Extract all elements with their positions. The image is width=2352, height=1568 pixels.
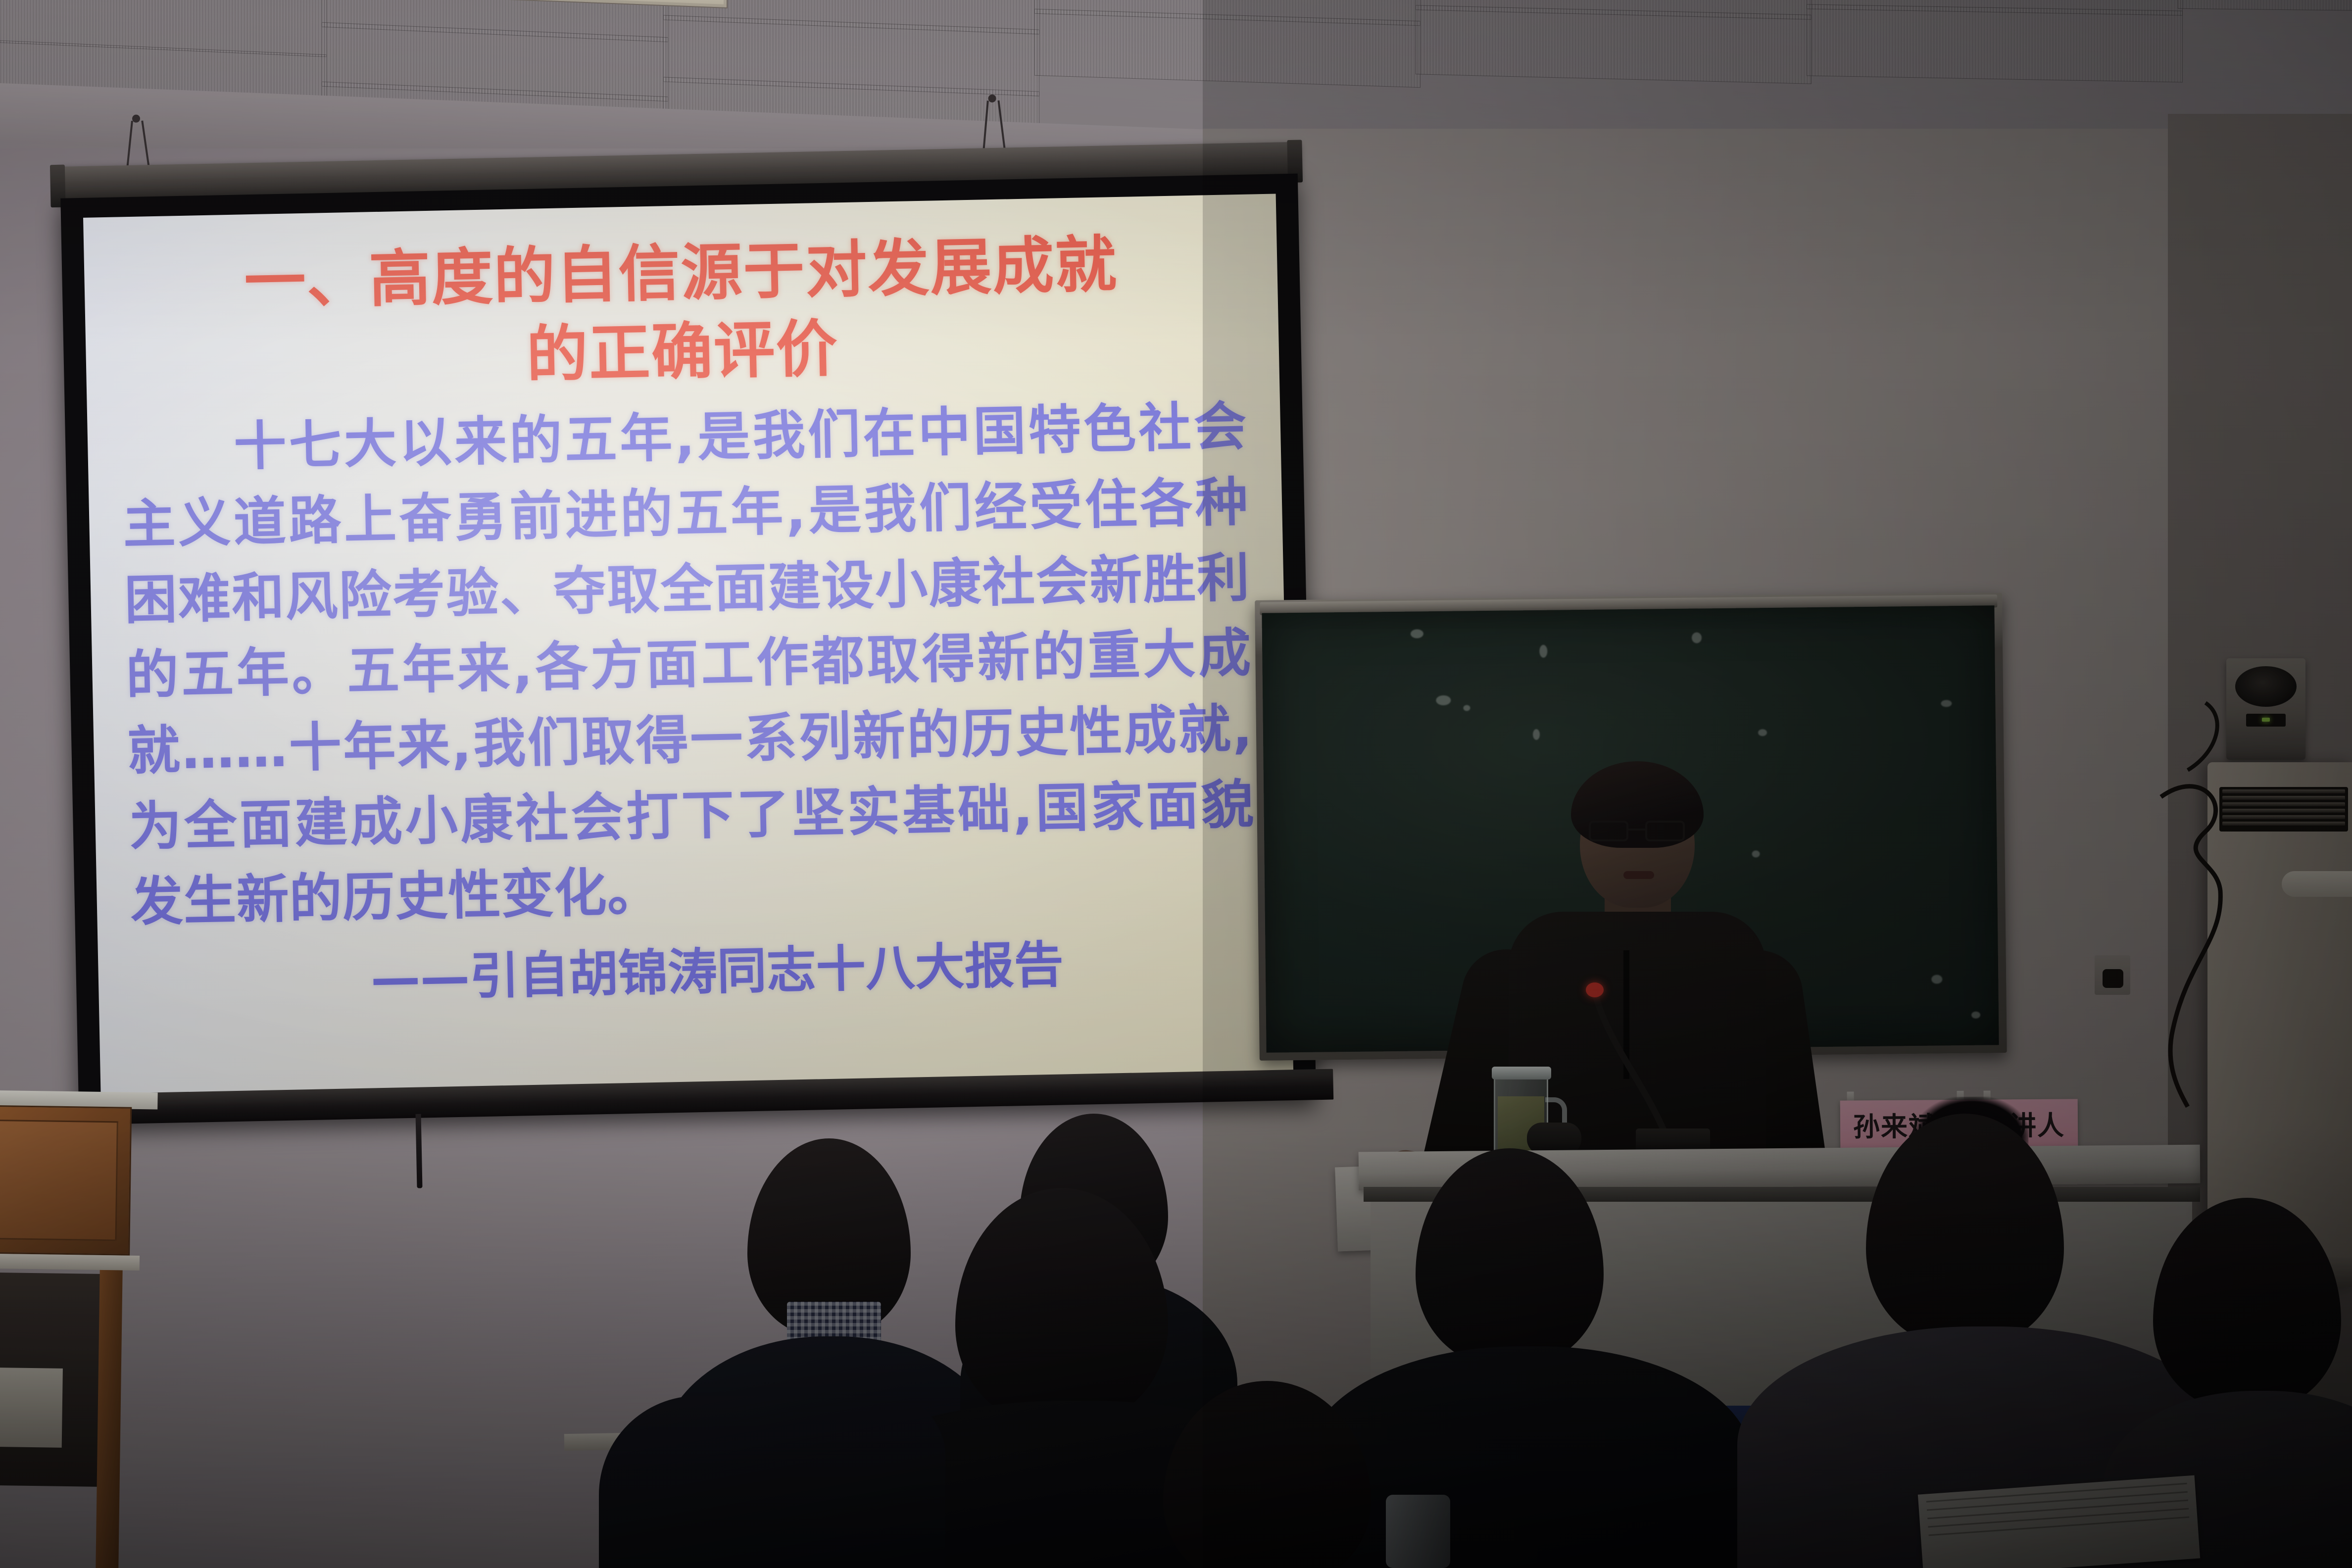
- power-plug[interactable]: [2103, 969, 2123, 988]
- eyeglasses-icon: [1589, 821, 1687, 842]
- ceiling-tile: [2178, 0, 2352, 11]
- thermos-bottle[interactable]: [1386, 1495, 1450, 1568]
- chalk-mark: [1971, 1012, 1980, 1019]
- microphone-head-led: [1586, 982, 1604, 997]
- speaker-mouth: [1623, 871, 1654, 879]
- chalk-mark: [1463, 705, 1470, 711]
- ceiling-tile: [1416, 5, 1812, 84]
- chalk-mark: [1411, 629, 1423, 638]
- chalk-mark: [1931, 975, 1942, 983]
- ceiling-tile: [1807, 4, 2183, 82]
- audience-head: [2153, 1198, 2341, 1411]
- slide-body-text: 十七大以来的五年,是我们在中国特色社会主义道路上奋勇前进的五年,是我们经受住各种…: [118, 389, 1260, 940]
- slide-title: 一、高度的自信源于对发展成就 的正确评价: [114, 223, 1249, 403]
- lecture-hall-photo: 一、高度的自信源于对发展成就 的正确评价 十七大以来的五年,是我们在中国特色社会…: [0, 0, 2352, 1568]
- lectern-wood-panel: [0, 1120, 118, 1241]
- ceiling-tile: [1034, 9, 1421, 88]
- lectern-wood-box: [0, 1105, 132, 1256]
- slide-title-line1: 一、高度的自信源于对发展成就: [244, 229, 1118, 318]
- glasses-lens-left: [1589, 821, 1628, 841]
- projected-slide: 一、高度的自信源于对发展成就 的正确评价 十七大以来的五年,是我们在中国特色社会…: [83, 194, 1293, 1103]
- screen-pull-cord[interactable]: [416, 1114, 423, 1188]
- slide-body-span: 十七大以来的五年,是我们在中国特色社会主义道路上奋勇前进的五年,是我们经受住各种…: [122, 396, 1255, 932]
- lectern-leg: [96, 1270, 123, 1568]
- lectern-shelf: [0, 1253, 140, 1271]
- chalk-mark: [1539, 645, 1547, 658]
- slide-attribution: ——引自胡锦涛同志十八大报告: [129, 929, 1261, 1016]
- audience-head: [1866, 1114, 2064, 1346]
- audience-torso: [599, 1396, 945, 1568]
- chalk-mark: [1692, 632, 1702, 643]
- audience-member: [599, 1356, 935, 1568]
- chalk-mark: [1758, 729, 1767, 736]
- audience-head: [1416, 1148, 1604, 1366]
- glasses-lens-right: [1645, 821, 1685, 841]
- projection-screen: 一、高度的自信源于对发展成就 的正确评价 十七大以来的五年,是我们在中国特色社会…: [30, 116, 1396, 1133]
- chalk-mark: [1941, 700, 1952, 707]
- glasses-bridge: [1628, 829, 1645, 831]
- lectern-paper-stack: [0, 1368, 63, 1448]
- audience-head: [1163, 1381, 1371, 1568]
- wooden-lectern: [0, 1090, 157, 1568]
- mug-lid: [1492, 1067, 1551, 1079]
- chalk-mark: [1436, 695, 1451, 705]
- cable-bundle: [2158, 683, 2352, 1109]
